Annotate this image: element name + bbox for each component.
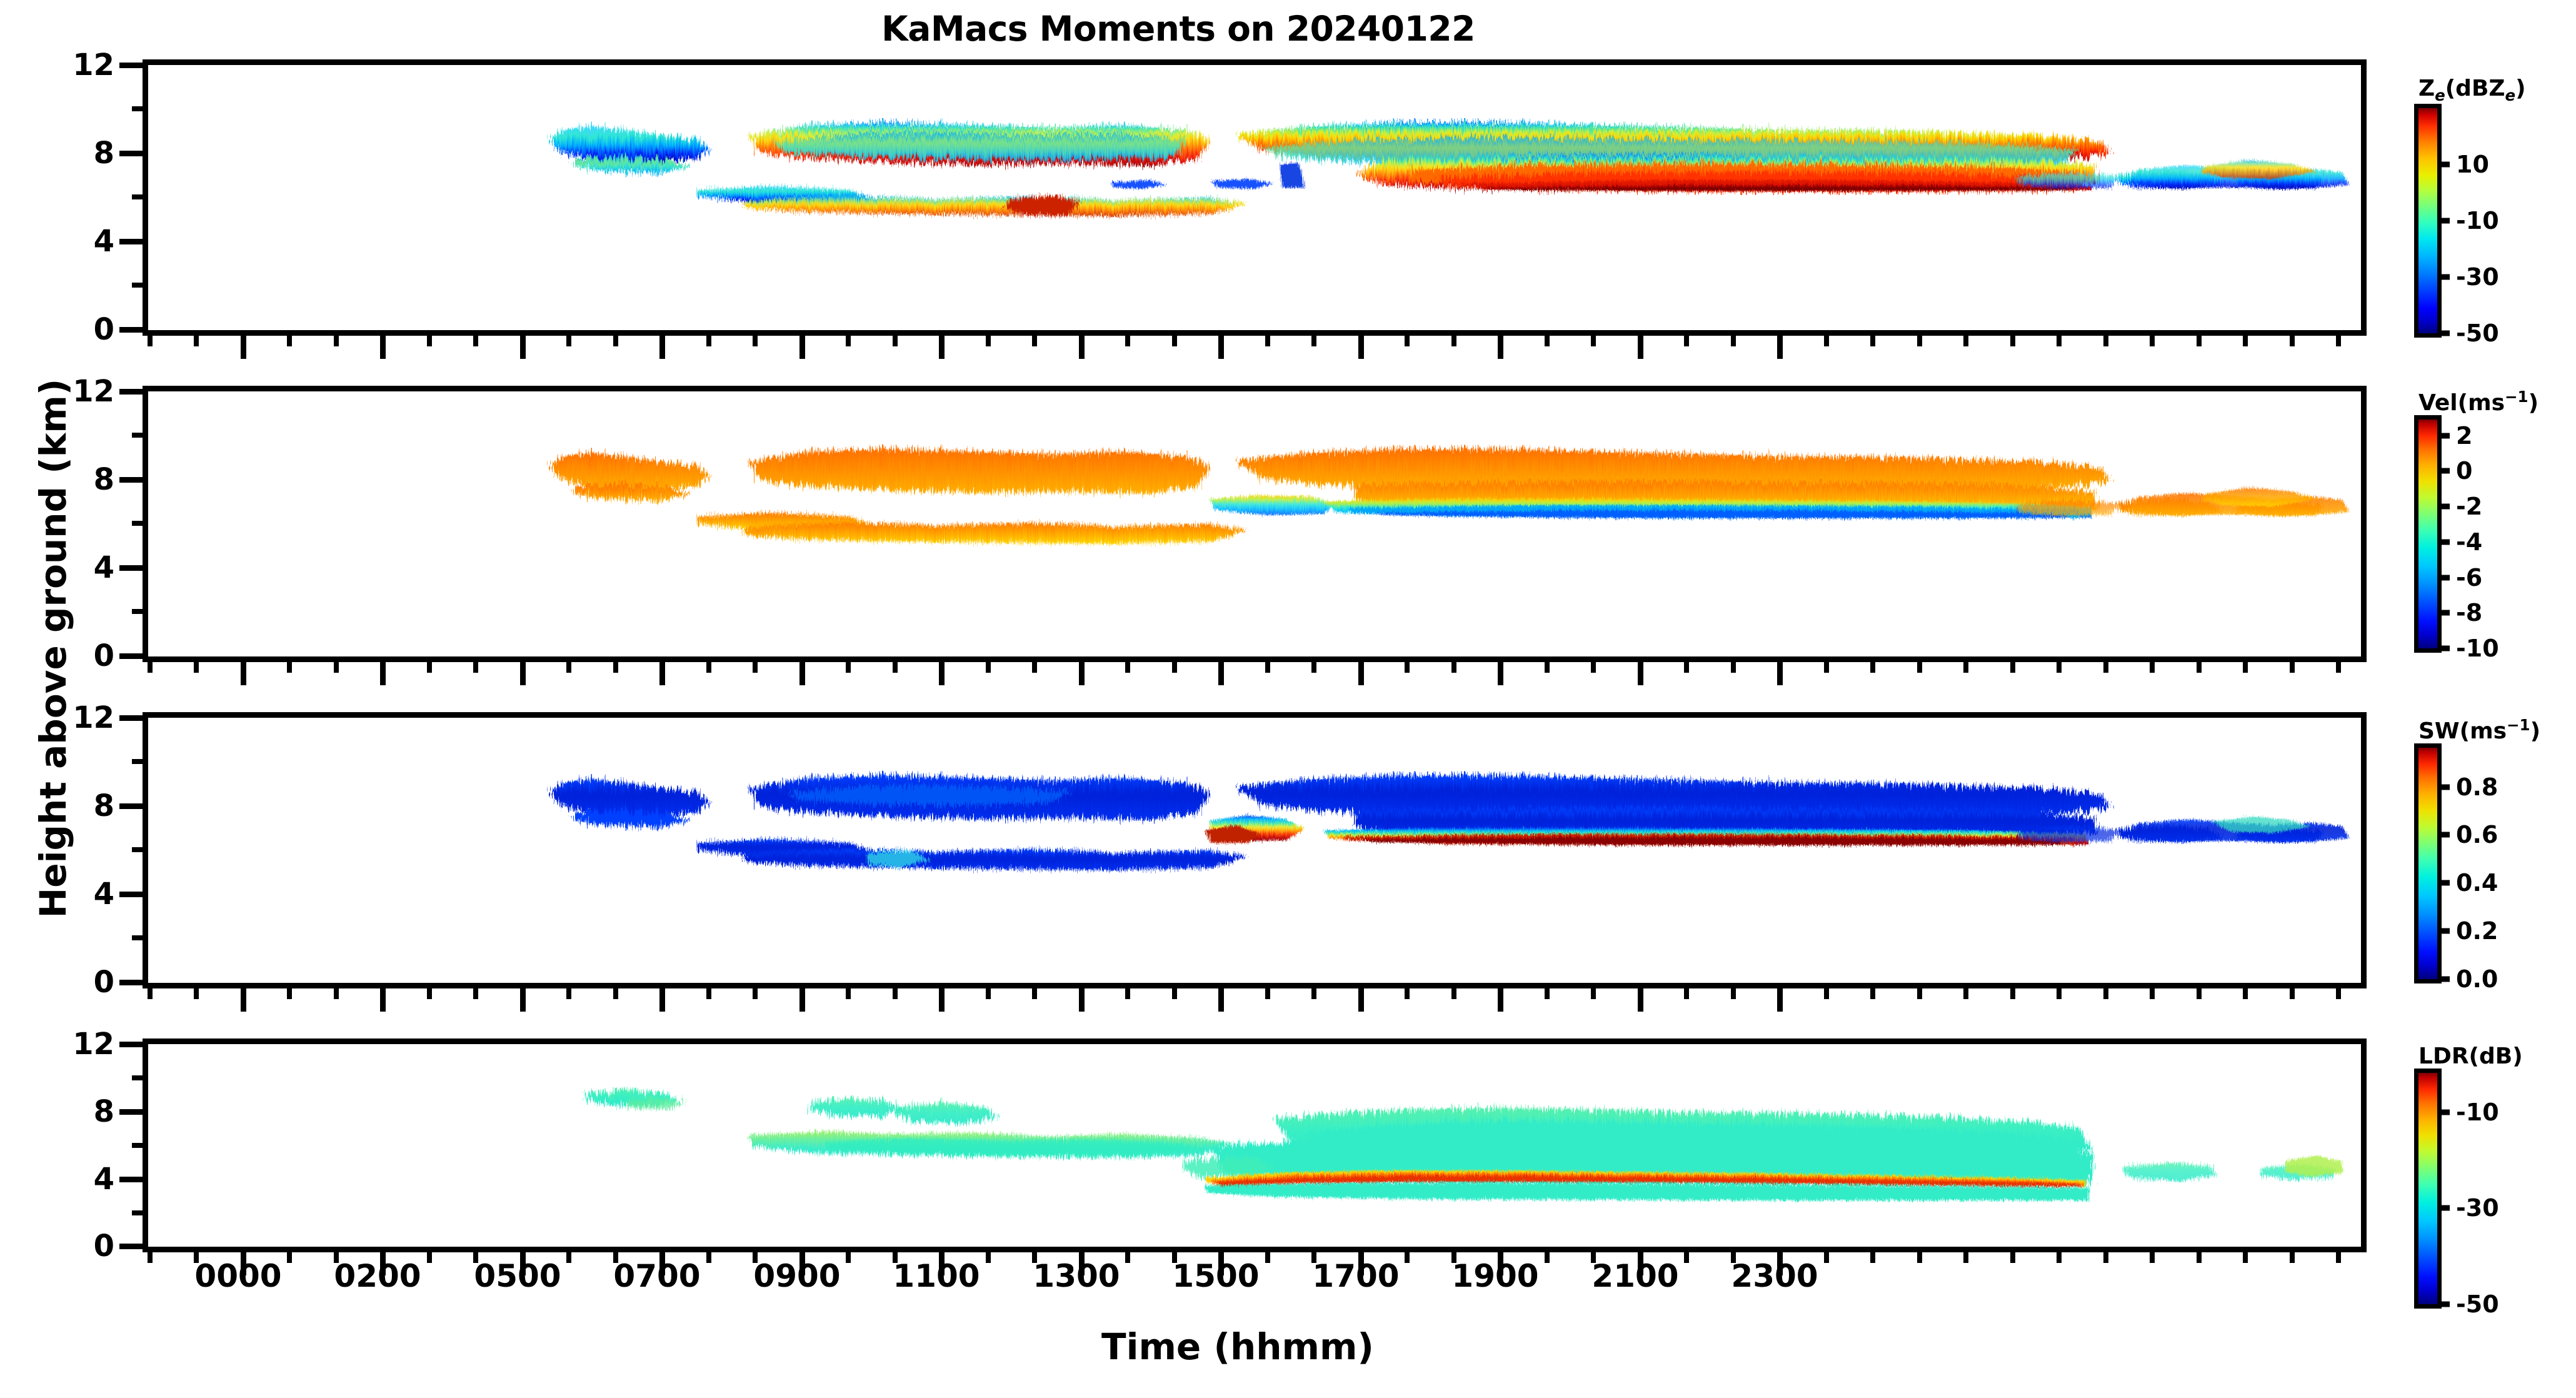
xtick-minor-p2-b <box>194 983 199 999</box>
cbar-ze-label-m50: -50 <box>2456 319 2499 347</box>
xtick-minor-p2-s <box>1405 983 1410 999</box>
cbar-sw-tick-04 <box>2437 880 2450 886</box>
xtick-label-0700: 0700 <box>613 1258 700 1294</box>
xtick-minor-p2-o <box>1125 983 1130 999</box>
xtick-label-1500: 1500 <box>1172 1258 1259 1294</box>
xtick-minor-p0-ai <box>2290 330 2295 346</box>
xtick-minor-p0-ae <box>2103 330 2108 346</box>
xtick-minor-p2-u <box>1545 983 1550 999</box>
ytick-label-12-p3: 12 <box>73 1027 114 1062</box>
xtick-minor-p1-ah <box>2243 656 2248 673</box>
xtick-minor-p1-a <box>148 656 153 673</box>
xtick-major-p2-1300 <box>1079 983 1085 1012</box>
xtick-minor-p0-ab <box>1963 330 1968 346</box>
xtick-minor-p3-ae <box>2103 1247 2108 1263</box>
cbar-vel-label-m10: -10 <box>2456 635 2499 662</box>
xtick-minor-p2-p <box>1172 983 1177 999</box>
xtick-minor-p3-c <box>287 1247 292 1263</box>
xtick-minor-p1-u <box>1545 656 1550 673</box>
cbar-sw-label-08: 0.8 <box>2456 773 2498 801</box>
xtick-label-1300: 1300 <box>1033 1258 1120 1294</box>
xtick-minor-p3-k <box>846 1247 851 1263</box>
xtick-minor-p2-l <box>893 983 898 999</box>
cbar-vel-label-m6: -6 <box>2456 564 2482 591</box>
xtick-major-p1-1100 <box>939 656 945 685</box>
cbar-vel-label-m4: -4 <box>2456 528 2482 556</box>
xtick-minor-p1-ae <box>2103 656 2108 673</box>
xtick-major-p0-0700 <box>659 330 665 359</box>
panel-ze-plot-area <box>148 65 2361 330</box>
radar-moments-figure: KaMacs Moments on 20240122 Height above … <box>0 0 2576 1398</box>
xtick-minor-p0-w <box>1684 330 1689 346</box>
ytick-label-8-p1: 8 <box>94 462 114 497</box>
ytick-0-p3 <box>119 1244 148 1249</box>
xtick-minor-p1-d <box>334 656 339 673</box>
x-axis-label: Time (hhmm) <box>119 1325 2357 1368</box>
y-axis-label: Height above ground (km) <box>32 242 74 1055</box>
ytick-label-0-p2: 0 <box>94 965 114 1000</box>
xtick-minor-p1-v <box>1591 656 1596 673</box>
xtick-minor-p1-m <box>986 656 991 673</box>
xtick-minor-p2-ag <box>2197 983 2202 999</box>
xtick-minor-p1-r <box>1311 656 1316 673</box>
xtick-major-p1-2100 <box>1638 656 1643 685</box>
xtick-minor-p0-p <box>1172 330 1177 346</box>
ze-heatmap <box>148 65 2361 330</box>
xtick-minor-p1-ag <box>2197 656 2202 673</box>
cbar-vel-tick-m4 <box>2437 539 2450 545</box>
ytick-label-8-p0: 8 <box>94 136 114 171</box>
xtick-major-p0-1300 <box>1079 330 1085 359</box>
xtick-minor-p3-i <box>706 1247 711 1263</box>
page-title: KaMacs Moments on 20240122 <box>0 9 2357 49</box>
xtick-minor-p1-b <box>194 656 199 673</box>
xtick-minor-p1-z <box>1870 656 1875 673</box>
panel-sw: 12 8 4 0 <box>143 712 2367 988</box>
xtick-minor-p2-n <box>1032 983 1037 999</box>
xtick-minor-p1-aj <box>2336 656 2341 673</box>
xtick-minor-p3-af <box>2150 1247 2155 1263</box>
xtick-minor-p3-ac <box>2010 1247 2015 1263</box>
xtick-minor-p1-s <box>1405 656 1410 673</box>
colorbar-vel: Vel(ms−1) 2 0 -2 -4 -6 -8 -10 <box>2414 415 2442 653</box>
xtick-major-p0-2100 <box>1638 330 1643 359</box>
ytick-8-p3 <box>119 1109 148 1115</box>
xtick-minor-p0-a <box>148 330 153 346</box>
colorbar-ldr-title: LDR(dB) <box>2418 1043 2523 1069</box>
ytick-2-p0 <box>132 283 148 288</box>
panel-vel-plot-area <box>148 391 2361 656</box>
xtick-minor-p0-af <box>2150 330 2155 346</box>
xtick-label-0000: 0000 <box>194 1258 281 1294</box>
xtick-major-p2-1900 <box>1498 983 1503 1012</box>
ytick-8-p1 <box>119 477 148 483</box>
xtick-minor-p0-e <box>427 330 432 346</box>
xtick-minor-p0-aa <box>1917 330 1922 346</box>
xtick-minor-p1-g <box>566 656 571 673</box>
xtick-minor-p2-h <box>613 983 618 999</box>
ytick-6-p0 <box>132 194 148 199</box>
cbar-vel-tick-2 <box>2437 433 2450 438</box>
xtick-minor-p3-a <box>148 1247 153 1263</box>
cbar-ze-label-m10: -10 <box>2456 207 2499 234</box>
xtick-minor-p3-u <box>1545 1247 1550 1263</box>
ytick-label-12-p2: 12 <box>73 700 114 735</box>
xtick-minor-p2-i <box>706 983 711 999</box>
xtick-minor-p3-ag <box>2197 1247 2202 1263</box>
xtick-minor-p0-i <box>706 330 711 346</box>
xtick-minor-p0-q <box>1265 330 1270 346</box>
cbar-vel-tick-m2 <box>2437 504 2450 510</box>
cbar-vel-tick-0 <box>2437 468 2450 474</box>
cbar-ldr-tick-m10 <box>2437 1109 2450 1115</box>
cbar-ze-tick-m50 <box>2437 331 2450 336</box>
xtick-minor-p1-ab <box>1963 656 1968 673</box>
xtick-minor-p0-ah <box>2243 330 2248 346</box>
xtick-major-p0-1900 <box>1498 330 1503 359</box>
ytick-0-p1 <box>119 653 148 659</box>
xtick-label-0900: 0900 <box>753 1258 840 1294</box>
ytick-12-p1 <box>119 389 148 395</box>
cbar-sw-tick-02 <box>2437 928 2450 933</box>
colorbar-ldr: LDR(dB) -10 -30 -50 <box>2414 1069 2442 1309</box>
xtick-minor-p1-p <box>1172 656 1177 673</box>
ldr-heatmap <box>148 1044 2361 1247</box>
ytick-0-p2 <box>119 980 148 985</box>
xtick-major-p1-0200 <box>380 656 386 685</box>
panel-vel: 12 8 4 0 <box>143 386 2367 662</box>
xtick-minor-p0-s <box>1405 330 1410 346</box>
cbar-vel-label-m8: -8 <box>2456 599 2482 626</box>
xtick-minor-p0-y <box>1824 330 1829 346</box>
xtick-minor-p0-u <box>1545 330 1550 346</box>
cbar-ldr-label-m50: -50 <box>2456 1290 2499 1318</box>
xtick-major-p1-2300 <box>1777 656 1783 685</box>
xtick-major-p0-0900 <box>799 330 805 359</box>
xtick-minor-p2-aj <box>2336 983 2341 999</box>
xtick-minor-p2-y <box>1824 983 1829 999</box>
ytick-label-12-p0: 12 <box>73 48 114 83</box>
cbar-sw-label-02: 0.2 <box>2456 917 2498 945</box>
xtick-label-1900: 1900 <box>1451 1258 1538 1294</box>
xtick-minor-p3-aa <box>1917 1247 1922 1263</box>
xtick-label-1100: 1100 <box>893 1258 980 1294</box>
xtick-minor-p2-w <box>1684 983 1689 999</box>
xtick-minor-p1-x <box>1731 656 1736 673</box>
xtick-minor-p3-z <box>1870 1247 1875 1263</box>
sw-heatmap <box>148 718 2361 983</box>
ytick-10-p3 <box>132 1075 148 1080</box>
ytick-2-p1 <box>132 609 148 614</box>
xtick-minor-p3-aj <box>2336 1247 2341 1263</box>
xtick-label-2300: 2300 <box>1731 1258 1818 1294</box>
xtick-minor-p3-e <box>427 1247 432 1263</box>
xtick-minor-p0-k <box>846 330 851 346</box>
ytick-4-p1 <box>119 565 148 571</box>
xtick-label-1700: 1700 <box>1312 1258 1399 1294</box>
ytick-12-p0 <box>119 63 148 68</box>
xtick-minor-p1-h <box>613 656 618 673</box>
ytick-2-p2 <box>132 935 148 940</box>
xtick-minor-p1-ad <box>2057 656 2062 673</box>
xtick-minor-p2-z <box>1870 983 1875 999</box>
xtick-major-p1-1700 <box>1358 656 1364 685</box>
xtick-minor-p2-c <box>287 983 292 999</box>
colorbar-sw: SW(ms−1) 0.8 0.6 0.4 0.2 0.0 <box>2414 743 2442 983</box>
xtick-minor-p1-ac <box>2010 656 2015 673</box>
colorbar-ze: Ze(dBZe) 10 -10 -30 -50 <box>2414 104 2442 338</box>
xtick-minor-p0-m <box>986 330 991 346</box>
xtick-major-p0-0500 <box>520 330 526 359</box>
ytick-6-p1 <box>132 521 148 526</box>
xtick-major-p2-2300 <box>1777 983 1783 1012</box>
ytick-4-p3 <box>119 1177 148 1182</box>
xtick-minor-p2-aa <box>1917 983 1922 999</box>
xtick-major-p0-1700 <box>1358 330 1364 359</box>
cbar-vel-label-2: 2 <box>2456 422 2472 450</box>
xtick-minor-p2-g <box>566 983 571 999</box>
xtick-minor-p1-e <box>427 656 432 673</box>
xtick-minor-p0-ag <box>2197 330 2202 346</box>
xtick-minor-p0-n <box>1032 330 1037 346</box>
ytick-12-p2 <box>119 715 148 721</box>
cbar-ze-tick-10 <box>2437 162 2450 168</box>
xtick-minor-p2-d <box>334 983 339 999</box>
xtick-major-p2-1500 <box>1218 983 1224 1012</box>
xtick-minor-p3-ai <box>2290 1247 2295 1263</box>
xtick-minor-p1-ai <box>2290 656 2295 673</box>
ytick-10-p2 <box>132 759 148 764</box>
xtick-major-p2-0700 <box>659 983 665 1012</box>
xtick-minor-p1-y <box>1824 656 1829 673</box>
ytick-label-0-p0: 0 <box>94 312 114 347</box>
xtick-minor-p1-t <box>1451 656 1456 673</box>
cbar-sw-label-00: 0.0 <box>2456 965 2498 993</box>
ytick-label-4-p3: 4 <box>94 1162 114 1197</box>
xtick-major-p2-0900 <box>799 983 805 1012</box>
cbar-sw-label-04: 0.4 <box>2456 869 2498 897</box>
cbar-vel-label-m2: -2 <box>2456 493 2482 520</box>
xtick-minor-p2-ac <box>2010 983 2015 999</box>
cbar-sw-tick-08 <box>2437 784 2450 790</box>
xtick-label-2100: 2100 <box>1591 1258 1678 1294</box>
xtick-minor-p2-f <box>473 983 478 999</box>
xtick-major-p1-0700 <box>659 656 665 685</box>
xtick-minor-p1-n <box>1032 656 1037 673</box>
xtick-minor-p1-o <box>1125 656 1130 673</box>
xtick-major-p2-0500 <box>520 983 526 1012</box>
ytick-2-p3 <box>132 1210 148 1215</box>
xtick-minor-p2-r <box>1311 983 1316 999</box>
xtick-minor-p3-ad <box>2057 1247 2062 1263</box>
xtick-minor-p3-s <box>1405 1247 1410 1263</box>
cbar-ze-label-m30: -30 <box>2456 263 2499 291</box>
cbar-vel-tick-m10 <box>2437 646 2450 651</box>
xtick-minor-p3-ab <box>1963 1247 1968 1263</box>
xtick-minor-p1-w <box>1684 656 1689 673</box>
xtick-minor-p2-k <box>846 983 851 999</box>
xtick-minor-p0-r <box>1311 330 1316 346</box>
xtick-minor-p2-a <box>148 983 153 999</box>
xtick-major-p1-1500 <box>1218 656 1224 685</box>
xtick-minor-p0-f <box>473 330 478 346</box>
xtick-major-p2-1100 <box>939 983 945 1012</box>
cbar-vel-tick-m8 <box>2437 610 2450 616</box>
xtick-minor-p3-m <box>986 1247 991 1263</box>
xtick-minor-p3-ah <box>2243 1247 2248 1263</box>
panel-sw-plot-area <box>148 718 2361 983</box>
xtick-label-0200: 0200 <box>334 1258 421 1294</box>
xtick-minor-p1-f <box>473 656 478 673</box>
xtick-minor-p2-ai <box>2290 983 2295 999</box>
xtick-major-p0-2300 <box>1777 330 1783 359</box>
xtick-major-p1-0500 <box>520 656 526 685</box>
ytick-10-p1 <box>132 433 148 438</box>
ytick-6-p2 <box>132 847 148 852</box>
xtick-major-p2-0000 <box>241 983 246 1012</box>
ytick-label-8-p2: 8 <box>94 788 114 823</box>
xtick-major-p1-0000 <box>241 656 246 685</box>
xtick-minor-p2-q <box>1265 983 1270 999</box>
xtick-minor-p1-q <box>1265 656 1270 673</box>
ytick-8-p2 <box>119 803 148 809</box>
cbar-ldr-label-m30: -30 <box>2456 1194 2499 1222</box>
xtick-label-0500: 0500 <box>474 1258 561 1294</box>
xtick-minor-p0-ac <box>2010 330 2015 346</box>
xtick-minor-p2-ae <box>2103 983 2108 999</box>
ytick-6-p3 <box>132 1143 148 1148</box>
ytick-12-p3 <box>119 1042 148 1047</box>
ytick-label-12-p1: 12 <box>73 374 114 409</box>
ytick-0-p0 <box>119 327 148 333</box>
xtick-minor-p0-j <box>753 330 758 346</box>
ytick-label-4-p1: 4 <box>94 550 114 585</box>
xtick-major-p2-0200 <box>380 983 386 1012</box>
ytick-label-0-p1: 0 <box>94 638 114 673</box>
xtick-minor-p3-o <box>1125 1247 1130 1263</box>
xtick-minor-p0-c <box>287 330 292 346</box>
xtick-minor-p3-q <box>1265 1247 1270 1263</box>
xtick-minor-p0-v <box>1591 330 1596 346</box>
xtick-minor-p2-m <box>986 983 991 999</box>
cbar-ldr-tick-m50 <box>2437 1302 2450 1307</box>
ytick-label-4-p0: 4 <box>94 224 114 259</box>
xtick-major-p0-0200 <box>380 330 386 359</box>
xtick-major-p2-2100 <box>1638 983 1643 1012</box>
xtick-minor-p1-c <box>287 656 292 673</box>
cbar-ze-label-10: 10 <box>2456 151 2489 178</box>
xtick-minor-p0-h <box>613 330 618 346</box>
xtick-minor-p2-t <box>1451 983 1456 999</box>
cbar-vel-tick-m6 <box>2437 575 2450 580</box>
xtick-major-p1-1300 <box>1079 656 1085 685</box>
xtick-minor-p2-ah <box>2243 983 2248 999</box>
panel-ze: 12 8 4 0 <box>143 59 2367 336</box>
xtick-minor-p1-j <box>753 656 758 673</box>
cbar-ldr-tick-m30 <box>2437 1205 2450 1211</box>
ytick-10-p0 <box>132 106 148 111</box>
cbar-ldr-label-m10: -10 <box>2456 1099 2499 1126</box>
ytick-4-p2 <box>119 892 148 897</box>
xtick-minor-p3-w <box>1684 1247 1689 1263</box>
xtick-major-p0-1500 <box>1218 330 1224 359</box>
xtick-major-p1-0900 <box>799 656 805 685</box>
xtick-minor-p0-aj <box>2336 330 2341 346</box>
xtick-minor-p2-j <box>753 983 758 999</box>
ytick-label-8-p3: 8 <box>94 1094 114 1129</box>
xtick-minor-p0-g <box>566 330 571 346</box>
xtick-minor-p2-e <box>427 983 432 999</box>
xtick-minor-p0-z <box>1870 330 1875 346</box>
cbar-ze-tick-m10 <box>2437 218 2450 224</box>
xtick-minor-p2-ad <box>2057 983 2062 999</box>
ytick-label-4-p2: 4 <box>94 877 114 912</box>
xtick-minor-p0-t <box>1451 330 1456 346</box>
xtick-minor-p0-b <box>194 330 199 346</box>
xtick-minor-p2-v <box>1591 983 1596 999</box>
xtick-major-p0-0000 <box>241 330 246 359</box>
ytick-8-p0 <box>119 151 148 156</box>
xtick-minor-p2-ab <box>1963 983 1968 999</box>
vel-heatmap <box>148 391 2361 656</box>
cbar-vel-label-0: 0 <box>2456 457 2472 485</box>
cbar-sw-tick-06 <box>2437 832 2450 838</box>
xtick-minor-p0-x <box>1731 330 1736 346</box>
xtick-minor-p1-af <box>2150 656 2155 673</box>
ytick-4-p0 <box>119 239 148 244</box>
xtick-minor-p0-o <box>1125 330 1130 346</box>
cbar-sw-tick-00 <box>2437 977 2450 982</box>
xtick-major-p0-1100 <box>939 330 945 359</box>
ytick-label-0-p3: 0 <box>94 1229 114 1264</box>
cbar-sw-label-06: 0.6 <box>2456 821 2498 848</box>
xtick-major-p1-1900 <box>1498 656 1503 685</box>
xtick-minor-p1-k <box>846 656 851 673</box>
xtick-minor-p0-ad <box>2057 330 2062 346</box>
xtick-minor-p0-d <box>334 330 339 346</box>
xtick-minor-p2-af <box>2150 983 2155 999</box>
cbar-ze-tick-m30 <box>2437 274 2450 280</box>
xtick-minor-p3-g <box>566 1247 571 1263</box>
xtick-major-p2-1700 <box>1358 983 1364 1012</box>
colorbar-sw-title: SW(ms−1) <box>2418 716 2540 744</box>
xtick-minor-p0-l <box>893 330 898 346</box>
xtick-minor-p3-y <box>1824 1247 1829 1263</box>
panel-ldr: 12 8 4 0 <box>143 1038 2367 1252</box>
colorbar-vel-title: Vel(ms−1) <box>2418 388 2538 416</box>
colorbar-ze-title: Ze(dBZe) <box>2418 76 2526 104</box>
xtick-minor-p1-l <box>893 656 898 673</box>
xtick-minor-p1-i <box>706 656 711 673</box>
panel-ldr-plot-area <box>148 1044 2361 1247</box>
xtick-minor-p1-aa <box>1917 656 1922 673</box>
xtick-minor-p2-x <box>1731 983 1736 999</box>
